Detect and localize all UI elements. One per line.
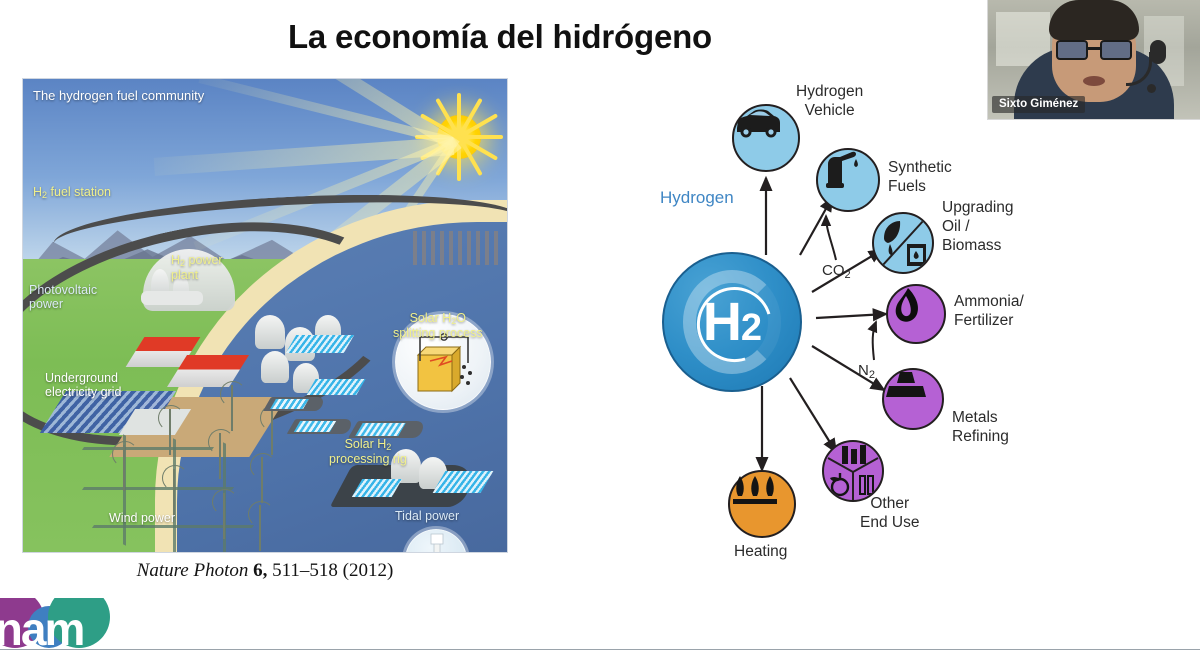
hydrogen-economy-hub-diagram: H2 Hydrogen CO2 N2 Hydrogen Vehicle S xyxy=(600,70,1060,580)
wind-turbine xyxy=(231,385,233,431)
grid-line xyxy=(82,447,214,450)
citation-journal: Nature Photon xyxy=(137,560,253,581)
wind-turbine xyxy=(223,493,225,539)
flame-leaf-icon xyxy=(888,286,924,326)
plant-solar-array xyxy=(286,335,354,353)
inam-logo: inam xyxy=(0,598,144,650)
label-underground-grid: Undergroundelectricity grid xyxy=(45,371,121,399)
headset-earcup-icon xyxy=(1150,40,1166,64)
hydrogen-hub-core: H2 xyxy=(662,252,802,392)
node-hydrogen-vehicle[interactable] xyxy=(732,104,800,172)
wind-turbine xyxy=(261,457,263,503)
node-synthetic-fuels[interactable] xyxy=(816,148,880,212)
burner-flames-icon xyxy=(730,472,780,510)
citation-volume: 6, xyxy=(253,560,267,581)
participant-hair xyxy=(1049,0,1139,40)
boat xyxy=(287,419,356,434)
label-solar-rig: Solar H2processing rig xyxy=(329,437,407,466)
node-heating[interactable] xyxy=(728,470,796,538)
distant-industry xyxy=(413,231,499,265)
webcam-video-tile[interactable]: Sixto Giménez xyxy=(987,0,1200,120)
boat xyxy=(348,421,428,438)
node-metals-refining[interactable] xyxy=(882,368,944,430)
citation-pages: 511–518 (2012) xyxy=(267,560,393,581)
label-photovoltaic-power: Photovoltaicpower xyxy=(29,283,97,311)
station-building xyxy=(141,291,203,305)
node-other-end-use[interactable] xyxy=(822,440,884,502)
n2-label: N2 xyxy=(858,362,875,379)
hydrogen-label: Hydrogen xyxy=(660,188,734,208)
ingots-icon xyxy=(884,370,928,404)
node-ammonia-fertilizer[interactable] xyxy=(886,284,946,344)
label-synthetic-fuels: Synthetic Fuels xyxy=(888,158,952,196)
wind-turbine xyxy=(169,409,171,455)
label-metals-refining: Metals Refining xyxy=(952,408,1009,446)
co2-label: CO2 xyxy=(822,262,851,279)
hydrogen-community-illustration: The hydrogen fuel community H2 fuel stat… xyxy=(22,78,508,553)
wind-turbine xyxy=(259,505,261,551)
participant-name-badge: Sixto Giménez xyxy=(992,96,1085,113)
label-solar-splitting: Solar H2Osplitting process xyxy=(393,311,483,340)
wind-turbine xyxy=(123,445,125,491)
headset-mic-tip-icon xyxy=(1147,84,1156,93)
label-other-end-use: Other End Use xyxy=(860,494,919,532)
footer-divider xyxy=(0,649,1200,650)
boat xyxy=(263,397,327,411)
participant-mouth xyxy=(1083,76,1105,86)
label-hydrogen-vehicle: Hydrogen Vehicle xyxy=(796,82,863,120)
plant-solar-array xyxy=(306,379,365,395)
label-ammonia-fertilizer: Ammonia/ Fertilizer xyxy=(954,292,1024,330)
eyeglasses-icon xyxy=(1056,40,1132,60)
fuel-nozzle-icon xyxy=(818,150,862,190)
page-title: La economía del hidrógeno xyxy=(0,18,1000,56)
leaf-oil-barrel-icon xyxy=(874,214,932,272)
logo-wordmark: inam xyxy=(0,602,83,650)
grid-line xyxy=(82,487,234,490)
plant-dome xyxy=(255,315,285,349)
label-tidal-power: Tidal power xyxy=(395,509,459,523)
presentation-slide: La economía del hidrógeno xyxy=(0,0,1200,652)
label-upgrading-oil-biomass: Upgrading Oil / Biomass xyxy=(942,198,1014,255)
label-h2-power-plant: H2 powerplant xyxy=(171,253,223,282)
label-wind-power: Wind power xyxy=(109,511,175,525)
label-community-title: The hydrogen fuel community xyxy=(33,89,204,103)
lab-glassware-icon xyxy=(824,442,882,500)
plant-dome xyxy=(261,351,289,383)
wind-turbine xyxy=(173,469,175,515)
wind-turbine xyxy=(271,409,273,455)
figure-citation: Nature Photon 6, 511–518 (2012) xyxy=(22,560,508,582)
node-upgrading-oil-biomass[interactable] xyxy=(872,212,934,274)
label-h2-fuel-station: H2 fuel station xyxy=(33,185,111,200)
hub-h2-symbol: H2 xyxy=(664,254,800,390)
label-heating: Heating xyxy=(734,542,787,561)
wind-turbine xyxy=(219,433,221,479)
car-icon xyxy=(734,106,782,140)
tidal-power-inset xyxy=(405,529,467,553)
